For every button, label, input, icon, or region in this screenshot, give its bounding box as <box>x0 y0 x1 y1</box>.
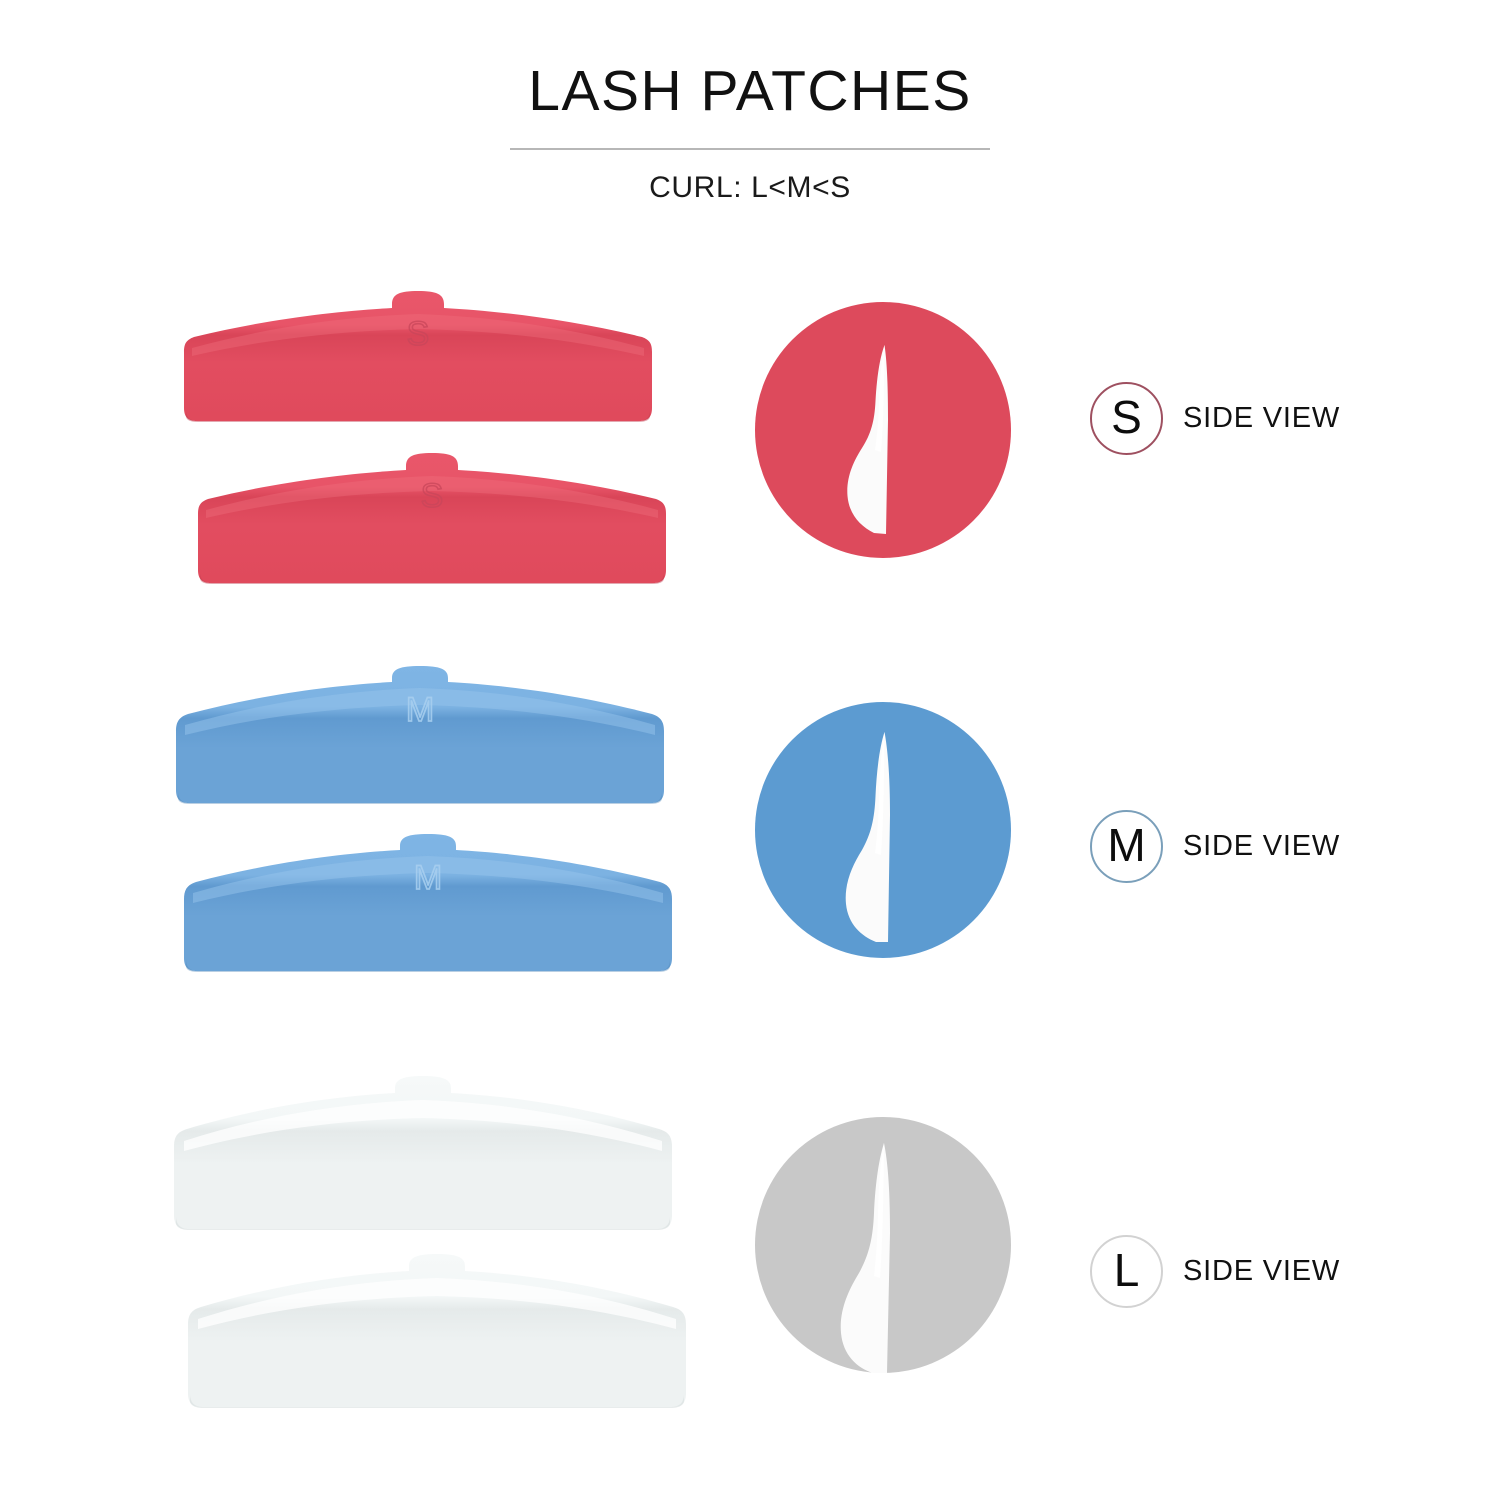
pad-m-2: M <box>178 833 698 975</box>
pad-stack-s: S <box>0 282 700 612</box>
infographic-page: LASH PATCHES CURL: L<M<S <box>0 0 1500 1500</box>
pad-l-2 <box>182 1253 702 1411</box>
silicone-pad-shape: M <box>170 665 670 807</box>
pad-l-1 <box>168 1075 688 1233</box>
side-view-label: SIDE VIEW <box>1183 1255 1340 1288</box>
side-view-circle-l <box>753 1115 1013 1375</box>
lash-profile-illustration <box>753 700 1013 960</box>
page-title: LASH PATCHES <box>0 62 1500 122</box>
pad-emboss-letter: M <box>414 859 442 897</box>
pad-stack-l <box>0 1063 700 1393</box>
product-row-l: L SIDE VIEW <box>0 1063 1500 1393</box>
pad-s-2: S <box>192 452 712 587</box>
silicone-pad-shape: M <box>178 833 678 975</box>
pad-s-1: S <box>178 290 698 425</box>
side-view-circle-s <box>753 300 1013 560</box>
legend-l: L SIDE VIEW <box>1090 1235 1340 1308</box>
legend-m: M SIDE VIEW <box>1090 810 1340 883</box>
side-view-circle-m <box>753 700 1013 960</box>
silicone-pad-shape <box>182 1253 692 1411</box>
silicone-pad-shape: S <box>178 290 658 425</box>
size-badge-letter: M <box>1107 822 1145 868</box>
silicone-pad-shape <box>168 1075 678 1233</box>
legend-s: S SIDE VIEW <box>1090 382 1340 455</box>
product-row-s: S <box>0 282 1500 612</box>
size-badge-letter: L <box>1114 1247 1140 1293</box>
pad-m-1: M <box>170 665 690 807</box>
pad-emboss-letter: S <box>421 477 444 515</box>
side-view-label: SIDE VIEW <box>1183 402 1340 435</box>
size-badge-letter: S <box>1111 394 1142 440</box>
pad-emboss-letter: S <box>407 315 430 353</box>
header-divider <box>510 148 990 150</box>
size-badge-l: L <box>1090 1235 1163 1308</box>
product-row-m: M <box>0 655 1500 985</box>
curl-subtitle: CURL: L<M<S <box>0 171 1500 205</box>
lash-profile-illustration <box>753 1115 1013 1375</box>
header: LASH PATCHES CURL: L<M<S <box>0 62 1500 205</box>
size-badge-s: S <box>1090 382 1163 455</box>
size-badge-m: M <box>1090 810 1163 883</box>
lash-profile-illustration <box>753 300 1013 560</box>
side-view-label: SIDE VIEW <box>1183 830 1340 863</box>
pad-stack-m: M <box>0 655 700 985</box>
pad-emboss-letter: M <box>406 691 434 729</box>
silicone-pad-shape: S <box>192 452 672 587</box>
